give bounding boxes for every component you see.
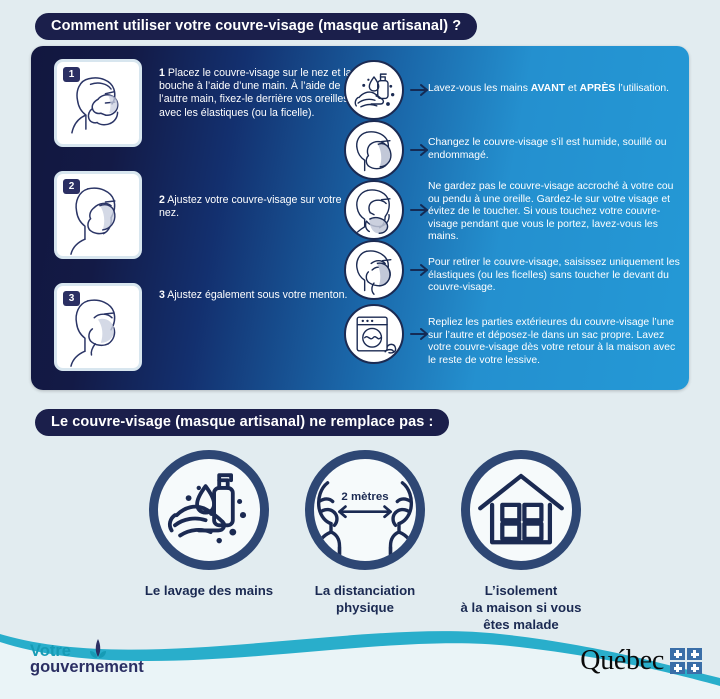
step-badge-2: 2 [63,179,80,194]
flag-cell [687,662,702,674]
note-text-3: Ne gardez pas le couvre-visage accroché … [428,181,686,244]
quebec-logo: Québec [580,645,702,677]
house-icon [461,450,581,570]
step-description-1: Placez le couvre-visage sur le nez et la… [159,67,352,119]
step-thumbnail-1: 1 [54,59,142,147]
note-text-2: Changez le couvre-visage s’il est humide… [428,137,686,162]
step-number-1: 1 [159,67,165,79]
note-text-4: Pour retirer le couvre-visage, saisissez… [428,257,686,295]
section-header-how-to-use: Comment utiliser votre couvre-visage (ma… [35,13,477,40]
flag-cell [670,648,685,660]
step-thumbnail-2: 2 [54,171,142,259]
flag-cell [687,648,702,660]
step-badge-3: 3 [63,291,80,306]
hand-washing-soap-icon [149,450,269,570]
washing-machine-icon [344,304,404,364]
wet-mask-icon [344,120,404,180]
step-description-3: Ajustez également sous votre menton. [167,289,347,301]
mask-on-neck-icon [344,180,404,240]
step-text-1: 1 Placez le couvre-visage sur le nez et … [159,67,359,120]
step-description-2: Ajustez votre couvre-visage sur votre ne… [159,194,342,219]
step-number-2: 2 [159,194,165,206]
physical-distancing-icon: 2 mètres [305,450,425,570]
note-text-5: Repliez les parties extérieures du couvr… [428,317,686,367]
hand-washing-icon [344,60,404,120]
step-text-3: 3 Ajustez également sous votre menton. [159,289,359,302]
fleur-de-lys-icon [90,639,106,658]
svg-text:2 mètres: 2 mètres [341,491,388,503]
step-thumbnail-3: 3 [54,283,142,371]
quebec-wordmark: Québec [580,645,664,677]
note-text-1: Lavez-vous les mains AVANT et APRÈS l’ut… [428,83,686,96]
step-number-3: 3 [159,289,165,301]
step-text-2: 2 Ajustez votre couvre-visage sur votre … [159,194,359,220]
section-header-does-not-replace: Le couvre-visage (masque artisanal) ne r… [35,409,449,436]
how-to-use-panel: 1 2 [31,46,689,390]
flag-cell [670,662,685,674]
quebec-flag-icon [670,648,702,674]
votre-gouvernement-logo: Votre gouvernement [28,635,178,677]
remove-mask-by-straps-icon [344,240,404,300]
step-badge-1: 1 [63,67,80,82]
svg-text:gouvernement: gouvernement [30,658,144,676]
